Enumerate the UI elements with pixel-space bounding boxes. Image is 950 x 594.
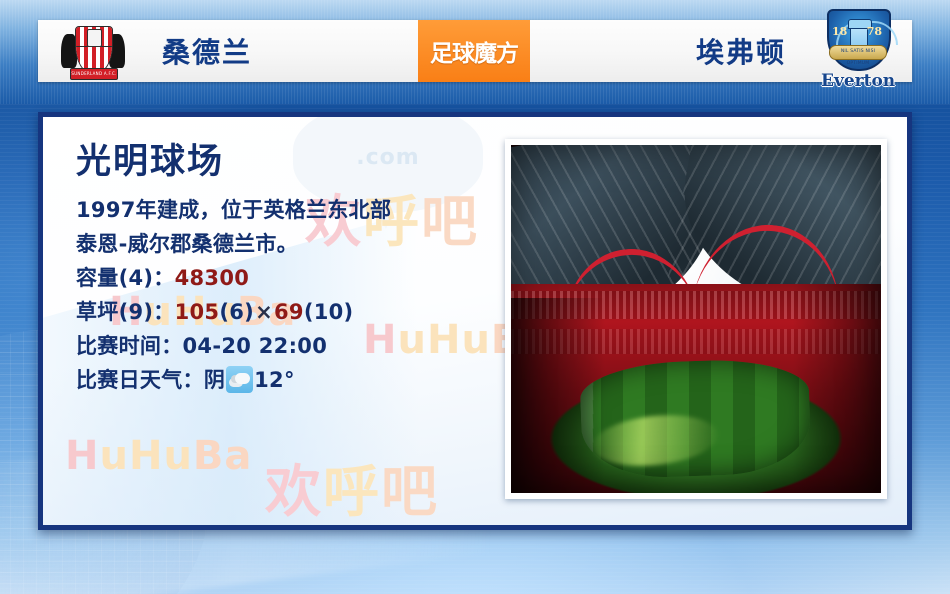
stadium-interior-photo [511,145,881,493]
everton-year-left: 18 [832,25,847,38]
watermark-brand-latin: HuHuBa [65,433,252,479]
weather-row: 比赛日天气：阴12° [76,363,496,397]
stadium-name: 光明球场 [76,141,496,183]
watermark-brand-cn: 欢呼吧 [265,447,439,525]
stadium-info-card-body: .com .com .com .com HuHuBa HuHuBa HuHuBa… [43,117,907,525]
pitch-length-rank: (6) [219,300,254,324]
everton-wordmark: Everton [821,71,893,91]
away-team-logo-slot[interactable]: 18 78 NIL SATIS NISI OPTIMUM Everton [802,20,912,82]
capacity-value: 48300 [175,266,250,290]
watermark-cn-part-2: 呼 [323,460,381,525]
crest-shield [75,26,113,74]
everton-motto: NIL SATIS NISI OPTIMUM [829,45,887,60]
everton-year-right: 78 [867,25,882,38]
away-team-name[interactable]: 埃弗顿 [530,31,802,71]
match-time-value: 04-20 22:00 [183,334,328,358]
watermark-cn-part-3: 吧 [381,460,439,525]
weather-temperature: 12° [254,368,295,392]
brand-badge[interactable]: 足球魔方 [418,20,530,82]
everton-crest-icon: 18 78 NIL SATIS NISI OPTIMUM Everton [821,9,893,93]
brand-badge-label: 足球魔方 [430,34,518,68]
pitch-row: 草坪(9)：105(6)×69(10) [76,295,496,329]
capacity-row: 容量(4)：48300 [76,261,496,295]
home-team-logo-slot[interactable]: SUNDERLAND A.F.C. [38,20,148,82]
watermark-latin-part-2: uHu [99,433,192,479]
stadium-description-line-1: 1997年建成，位于英格兰东北部 [76,193,496,227]
match-time-row: 比赛时间：04-20 22:00 [76,329,496,363]
sunderland-crest-icon: SUNDERLAND A.F.C. [61,22,125,80]
crest-tower-icon [87,29,102,47]
pitch-separator: × [254,300,274,324]
pitch-width: 69 [274,300,304,324]
stadium-description-line-2: 泰恩-威尔郡桑德兰市。 [76,227,496,261]
stadium-details: 光明球场 1997年建成，位于英格兰东北部 泰恩-威尔郡桑德兰市。 容量(4)：… [76,141,496,397]
weather-label: 比赛日天气： [76,368,204,392]
pitch-label: 草坪(9)： [76,300,175,324]
watermark-latin-part-3: Ba [193,433,252,479]
crest-ribbon: SUNDERLAND A.F.C. [70,68,118,80]
stadium-info-card: .com .com .com .com HuHuBa HuHuBa HuHuBa… [38,112,912,530]
team-strip: SUNDERLAND A.F.C. 桑德兰 足球魔方 埃弗顿 18 78 NIL… [38,20,912,82]
match-time-label: 比赛时间： [76,334,183,358]
pitch-width-rank: (10) [304,300,354,324]
cloudy-weather-icon [226,366,253,393]
photo-vignette [511,145,881,493]
stadium-photo-frame[interactable] [505,139,887,499]
pitch-length: 105 [175,300,220,324]
home-team-name[interactable]: 桑德兰 [148,31,418,71]
match-header: SUNDERLAND A.F.C. 桑德兰 足球魔方 埃弗顿 18 78 NIL… [0,0,950,104]
watermark-cn-part-1: 欢 [265,460,323,525]
watermark-latin-part-1: H [65,433,99,479]
capacity-label: 容量(4)： [76,266,175,290]
weather-condition: 阴 [204,368,225,392]
app-root: SUNDERLAND A.F.C. 桑德兰 足球魔方 埃弗顿 18 78 NIL… [0,0,950,594]
